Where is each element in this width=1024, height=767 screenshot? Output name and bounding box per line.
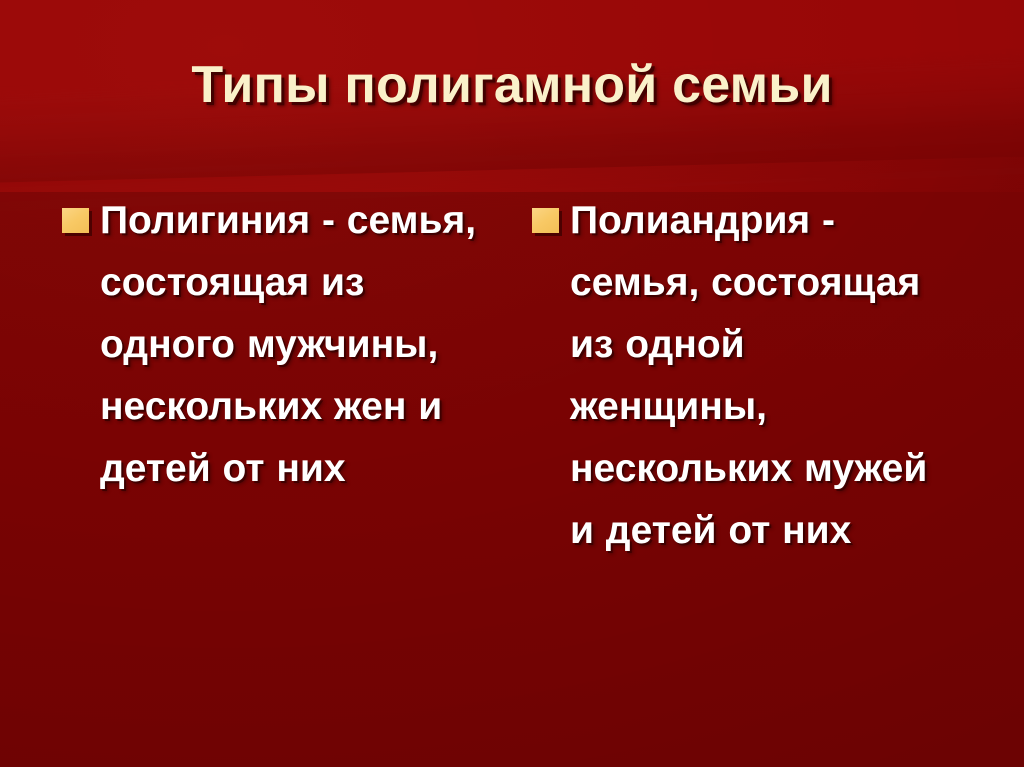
content-column-left: Полигиния - семья, состоящая из одного м… — [58, 190, 488, 500]
content-column-right: Полиандрия - семья, состоящая из одной ж… — [528, 190, 948, 562]
bullet-item-polyandry: Полиандрия - семья, состоящая из одной ж… — [528, 190, 948, 562]
bullet-text-polygyny: Полигиния - семья, состоящая из одного м… — [100, 190, 488, 500]
bullet-text-polyandry: Полиандрия - семья, состоящая из одной ж… — [570, 190, 948, 562]
slide-body: Полигиния - семья, состоящая из одного м… — [0, 190, 1024, 750]
slide-title: Типы полигамной семьи — [191, 58, 832, 112]
bullet-item-polygyny: Полигиния - семья, состоящая из одного м… — [58, 190, 488, 500]
presentation-slide: Типы полигамной семьи Полигиния - семья,… — [0, 0, 1024, 767]
slide-title-block: Типы полигамной семьи — [0, 58, 1024, 112]
square-bullet-icon — [532, 208, 559, 233]
square-bullet-icon — [62, 208, 89, 233]
